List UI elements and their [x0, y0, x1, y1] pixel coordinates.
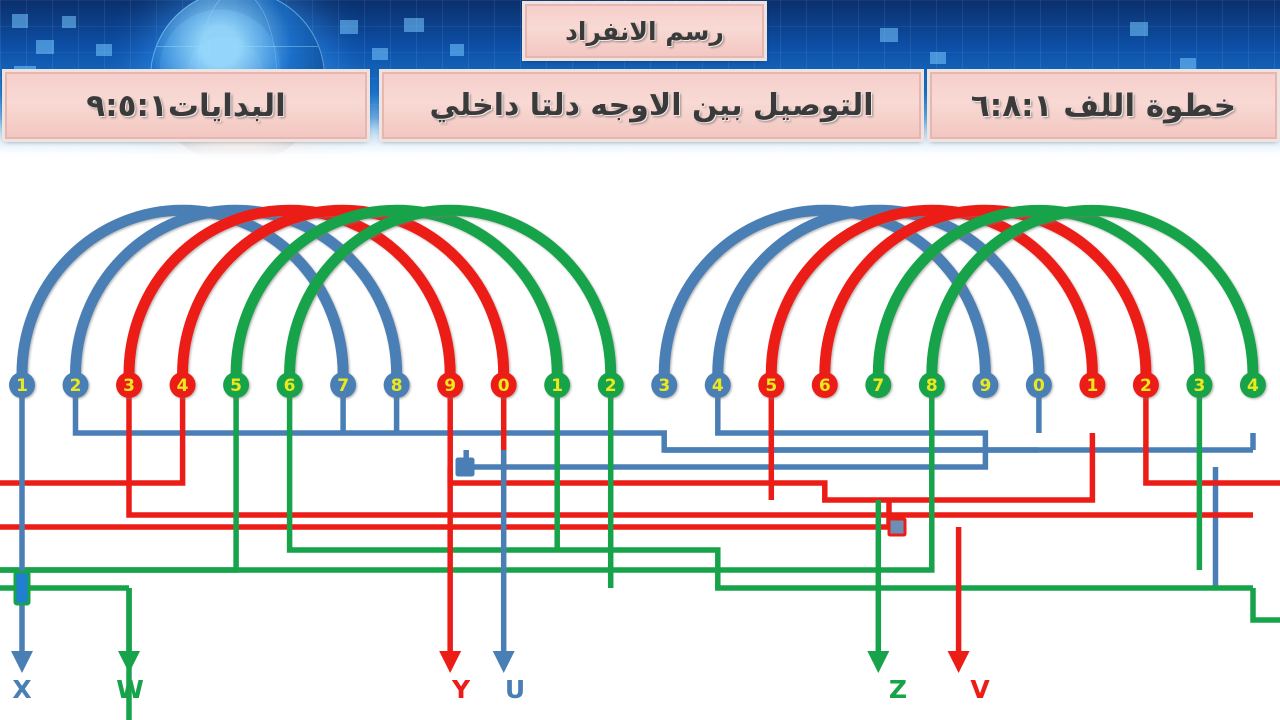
- header-square: [96, 44, 112, 56]
- connection-wires-group: [0, 385, 1280, 720]
- header-square: [12, 14, 28, 28]
- connection-plaque: التوصيل بين الاوجه دلتا داخلي: [382, 72, 921, 139]
- terminal-label-v: V: [970, 675, 990, 704]
- header-square: [1180, 58, 1196, 70]
- header-square: [930, 52, 946, 64]
- slot-number-label: 5: [765, 376, 777, 396]
- wire-junction-marker: [889, 519, 905, 535]
- winding-diagram: 123456789012345678901234 XWYUZV: [0, 150, 1280, 720]
- slot-number-label: 8: [926, 376, 938, 396]
- header-square: [880, 28, 898, 42]
- slot-number-label: 9: [979, 376, 991, 396]
- slot-number-label: 4: [1247, 376, 1259, 396]
- terminal-labels-group: XWYUZV: [12, 675, 990, 704]
- slot-number-label: 3: [1194, 376, 1206, 396]
- arrow-head-icon: [11, 651, 33, 673]
- slot-number-label: 3: [658, 376, 670, 396]
- slot-number-label: 4: [712, 376, 724, 396]
- winding-diagram-page: رسم الانفراد خطوة اللف ٦:٨:١ التوصيل بين…: [0, 0, 1280, 720]
- arrow-head-icon: [493, 651, 515, 673]
- slot-number-label: 2: [70, 376, 82, 396]
- slot-number-label: 3: [123, 376, 135, 396]
- starts-plaque: البدايات٩:٥:١: [5, 72, 367, 139]
- slot-number-label: 5: [230, 376, 242, 396]
- slot-number-label: 2: [605, 376, 617, 396]
- terminal-label-u: U: [505, 675, 525, 704]
- terminal-label-w: W: [116, 675, 144, 704]
- slot-number-label: 1: [16, 376, 28, 396]
- arrow-head-icon: [118, 651, 140, 673]
- slot-number-label: 2: [1140, 376, 1152, 396]
- header-square: [340, 20, 358, 34]
- slot-number-label: 7: [337, 376, 349, 396]
- header-square: [404, 18, 424, 32]
- slot-nodes-group: 123456789012345678901234: [9, 372, 1266, 398]
- header-square: [1130, 22, 1148, 36]
- slot-number-label: 0: [498, 376, 510, 396]
- slot-number-label: 9: [444, 376, 456, 396]
- page-title: رسم الانفراد: [525, 4, 764, 58]
- slot-number-label: 7: [872, 376, 884, 396]
- winding-step-plaque: خطوة اللف ٦:٨:١: [930, 72, 1277, 139]
- arrow-head-icon: [439, 651, 461, 673]
- header-square: [450, 44, 464, 56]
- connection-wire: [466, 385, 985, 467]
- connection-wire: [1253, 588, 1280, 620]
- slot-number-label: 1: [1086, 376, 1098, 396]
- slot-number-label: 0: [1033, 376, 1045, 396]
- header-square: [372, 48, 388, 60]
- arrow-head-icon: [867, 651, 889, 673]
- slot-number-label: 6: [284, 376, 296, 396]
- wire-junction-marker: [457, 459, 473, 475]
- arrow-head-icon: [948, 651, 970, 673]
- slot-number-label: 4: [177, 376, 189, 396]
- slot-number-label: 1: [551, 376, 563, 396]
- connection-wire: [0, 385, 236, 570]
- terminal-label-z: Z: [889, 675, 907, 704]
- coil-arcs-group: [22, 210, 1253, 374]
- wire-junction-marker: [15, 572, 29, 604]
- terminal-label-y: Y: [451, 675, 471, 704]
- connection-wire: [0, 385, 932, 570]
- header-square: [36, 40, 54, 54]
- header-square: [62, 16, 76, 28]
- terminal-label-x: X: [12, 675, 31, 704]
- slot-number-label: 8: [391, 376, 403, 396]
- slot-number-label: 6: [819, 376, 831, 396]
